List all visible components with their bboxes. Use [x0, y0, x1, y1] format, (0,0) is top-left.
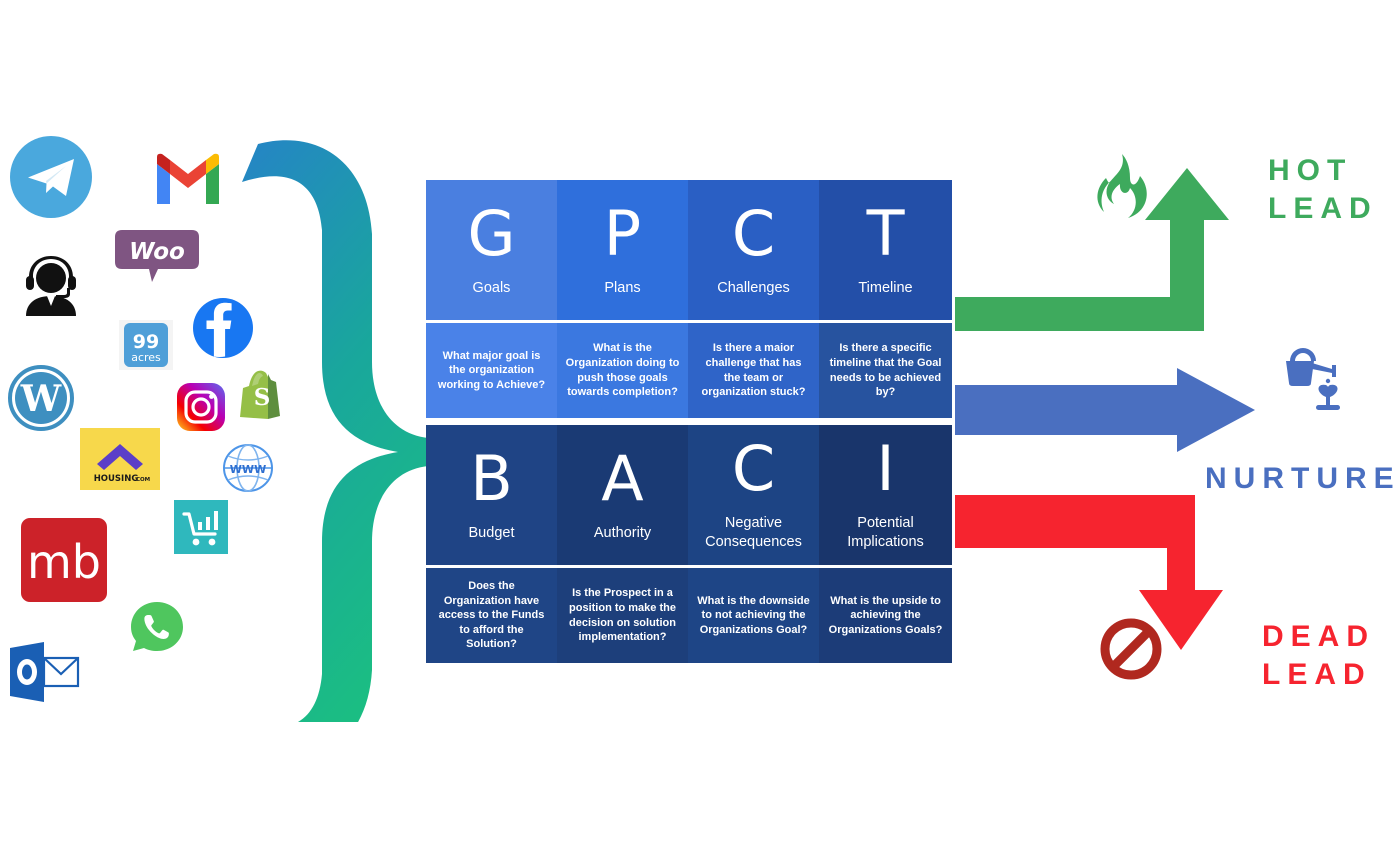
matrix-cell-timeline[interactable]: T Timeline	[819, 180, 952, 320]
housing-com-icon: HOUSING .COM	[80, 428, 160, 490]
matrix-cell-potential-implications[interactable]: I Potential Implications	[819, 425, 952, 565]
matrix-question-text: What is the downside to not achieving th…	[696, 594, 811, 638]
matrix-cell-authority[interactable]: A Authority	[557, 425, 688, 565]
matrix-letter: G	[467, 203, 515, 265]
ninetynine-acres-icon: 99 acres	[119, 320, 173, 370]
matrix-cell-goals[interactable]: G Goals	[426, 180, 557, 320]
matrix-question-budget: Does the Organization have access to the…	[426, 568, 557, 663]
matrix-question-challenges: Is there a maior challenge that has the …	[688, 323, 819, 418]
matrix-question-text: Does the Organization have access to the…	[434, 579, 549, 652]
matrix-letter: A	[601, 448, 643, 510]
matrix-letter: T	[867, 203, 905, 265]
matrix-row-divider	[426, 418, 952, 425]
matrix-question-plans: What is the Organization doing to push t…	[557, 323, 688, 418]
matrix-question-goals: What major goal is the organization work…	[426, 323, 557, 418]
matrix-letter: C	[732, 203, 775, 265]
matrix-letter: P	[604, 203, 641, 265]
funnel-brace	[232, 130, 432, 722]
support-agent-icon	[18, 252, 84, 318]
ecommerce-cart-icon	[174, 500, 228, 554]
dead-lead-label-line1: DEAD	[1262, 618, 1375, 656]
acres-number: 99	[133, 331, 159, 353]
svg-text:W: W	[20, 378, 62, 420]
matrix-word: Plans	[604, 279, 640, 298]
dead-lead-label: DEAD LEAD	[1262, 618, 1375, 695]
gpct-question-band: What major goal is the organization work…	[426, 323, 952, 418]
woo-wordmark: Woo	[129, 239, 185, 265]
matrix-question-negative-consequences: What is the downside to not achieving th…	[688, 568, 819, 663]
matrix-question-text: What is the upside to achieving the Orga…	[827, 594, 944, 638]
flame-icon	[1086, 152, 1152, 228]
matrix-word: Goals	[473, 279, 511, 298]
matrix-letter: B	[470, 448, 513, 510]
matrix-question-text: What is the Organization doing to push t…	[565, 341, 680, 399]
baci-question-band: Does the Organization have access to the…	[426, 568, 952, 663]
matrix-question-text: Is the Prospect in a position to make th…	[565, 586, 680, 644]
baci-header-band: B Budget A Authority C Negative Conseque…	[426, 425, 952, 565]
gmail-icon	[152, 150, 224, 208]
arrow-down-dead-lead	[955, 495, 1223, 650]
watering-can-plant-icon	[1278, 345, 1358, 415]
matrix-cell-negative-consequences[interactable]: C Negative Consequences	[688, 425, 819, 565]
nurture-label: NURTURE	[1205, 460, 1400, 498]
wordpress-icon: W	[8, 365, 74, 431]
matrix-word: Challenges	[717, 279, 790, 298]
magicbricks-wordmark: mb	[27, 535, 101, 589]
no-entry-icon	[1100, 618, 1162, 680]
housing-suffix: .COM	[134, 477, 150, 483]
matrix-word: Potential Implications	[819, 514, 952, 552]
hot-lead-label-line1: HOT	[1268, 152, 1378, 190]
matrix-question-authority: Is the Prospect in a position to make th…	[557, 568, 688, 663]
matrix-question-text: What major goal is the organization work…	[434, 349, 549, 393]
gpct-header-band: G Goals P Plans C Challenges T Timeline	[426, 180, 952, 320]
matrix-cell-budget[interactable]: B Budget	[426, 425, 557, 565]
telegram-icon	[10, 136, 92, 218]
whatsapp-icon	[124, 595, 190, 661]
nurture-label-line1: NURTURE	[1205, 460, 1400, 498]
dead-lead-label-line2: LEAD	[1262, 656, 1375, 694]
matrix-question-text: Is there a maior challenge that has the …	[696, 341, 811, 399]
matrix-word: Timeline	[858, 279, 912, 298]
matrix-cell-plans[interactable]: P Plans	[557, 180, 688, 320]
matrix-question-timeline: Is there a specific timeline that the Go…	[819, 323, 952, 418]
outlook-icon	[8, 640, 80, 706]
matrix-word: Budget	[469, 524, 515, 543]
arrow-right-nurture	[955, 368, 1255, 452]
woocommerce-icon: Woo	[114, 228, 200, 284]
acres-word: acres	[131, 351, 161, 364]
housing-wordmark: HOUSING	[94, 474, 139, 484]
matrix-letter: I	[876, 438, 894, 500]
matrix-question-text: Is there a specific timeline that the Go…	[827, 341, 944, 399]
matrix-cell-challenges[interactable]: C Challenges	[688, 180, 819, 320]
diagram-canvas: Woo 99 acres W	[0, 0, 1400, 850]
gpct-baci-matrix: G Goals P Plans C Challenges T Timeline …	[426, 180, 952, 663]
hot-lead-label-line2: LEAD	[1268, 190, 1378, 228]
matrix-letter: C	[732, 438, 775, 500]
magicbricks-icon: mb	[21, 518, 107, 602]
hot-lead-label: HOT LEAD	[1268, 152, 1378, 229]
matrix-question-potential-implications: What is the upside to achieving the Orga…	[819, 568, 952, 663]
instagram-icon	[177, 383, 225, 431]
matrix-word: Negative Consequences	[688, 514, 819, 552]
matrix-word: Authority	[594, 524, 651, 543]
